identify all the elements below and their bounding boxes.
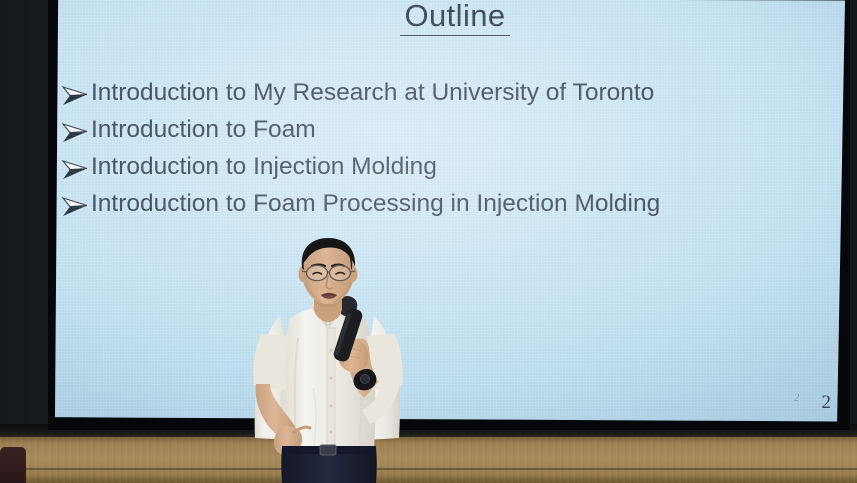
presenter-figure	[228, 238, 428, 483]
list-item-label: Introduction to My Research at Universit…	[91, 80, 654, 106]
list-item: Introduction to Injection Molding	[61, 154, 845, 188]
presentation-photo-scene: Outline Introduction to My Research at U…	[0, 0, 857, 483]
projection-screen: Outline Introduction to My Research at U…	[55, 0, 845, 424]
slide-bullet-list: Introduction to My Research at Universit…	[61, 80, 845, 228]
page-number-reflection: 2	[793, 392, 800, 404]
list-item-label: Introduction to Injection Molding	[91, 154, 437, 180]
list-item: Introduction to My Research at Universit…	[61, 80, 845, 114]
list-item-label: Introduction to Foam Processing in Injec…	[91, 191, 660, 217]
arrowhead-bullet-icon	[61, 85, 91, 114]
wood-panel-seam	[0, 468, 857, 470]
chair-edge	[0, 447, 26, 483]
list-item-label: Introduction to Foam	[91, 117, 316, 143]
page-number: 2	[822, 392, 832, 414]
list-item: Introduction to Foam	[61, 117, 845, 151]
wood-grain-texture	[0, 437, 857, 483]
list-item: Introduction to Foam Processing in Injec…	[61, 191, 845, 225]
presenter-trousers	[281, 445, 377, 483]
arrowhead-bullet-icon	[61, 196, 91, 225]
presenter-head	[299, 238, 358, 304]
slide-title-text: Outline	[400, 0, 509, 36]
arrowhead-bullet-icon	[61, 122, 91, 151]
arrowhead-bullet-icon	[61, 159, 91, 188]
slide-title: Outline	[55, 0, 845, 33]
